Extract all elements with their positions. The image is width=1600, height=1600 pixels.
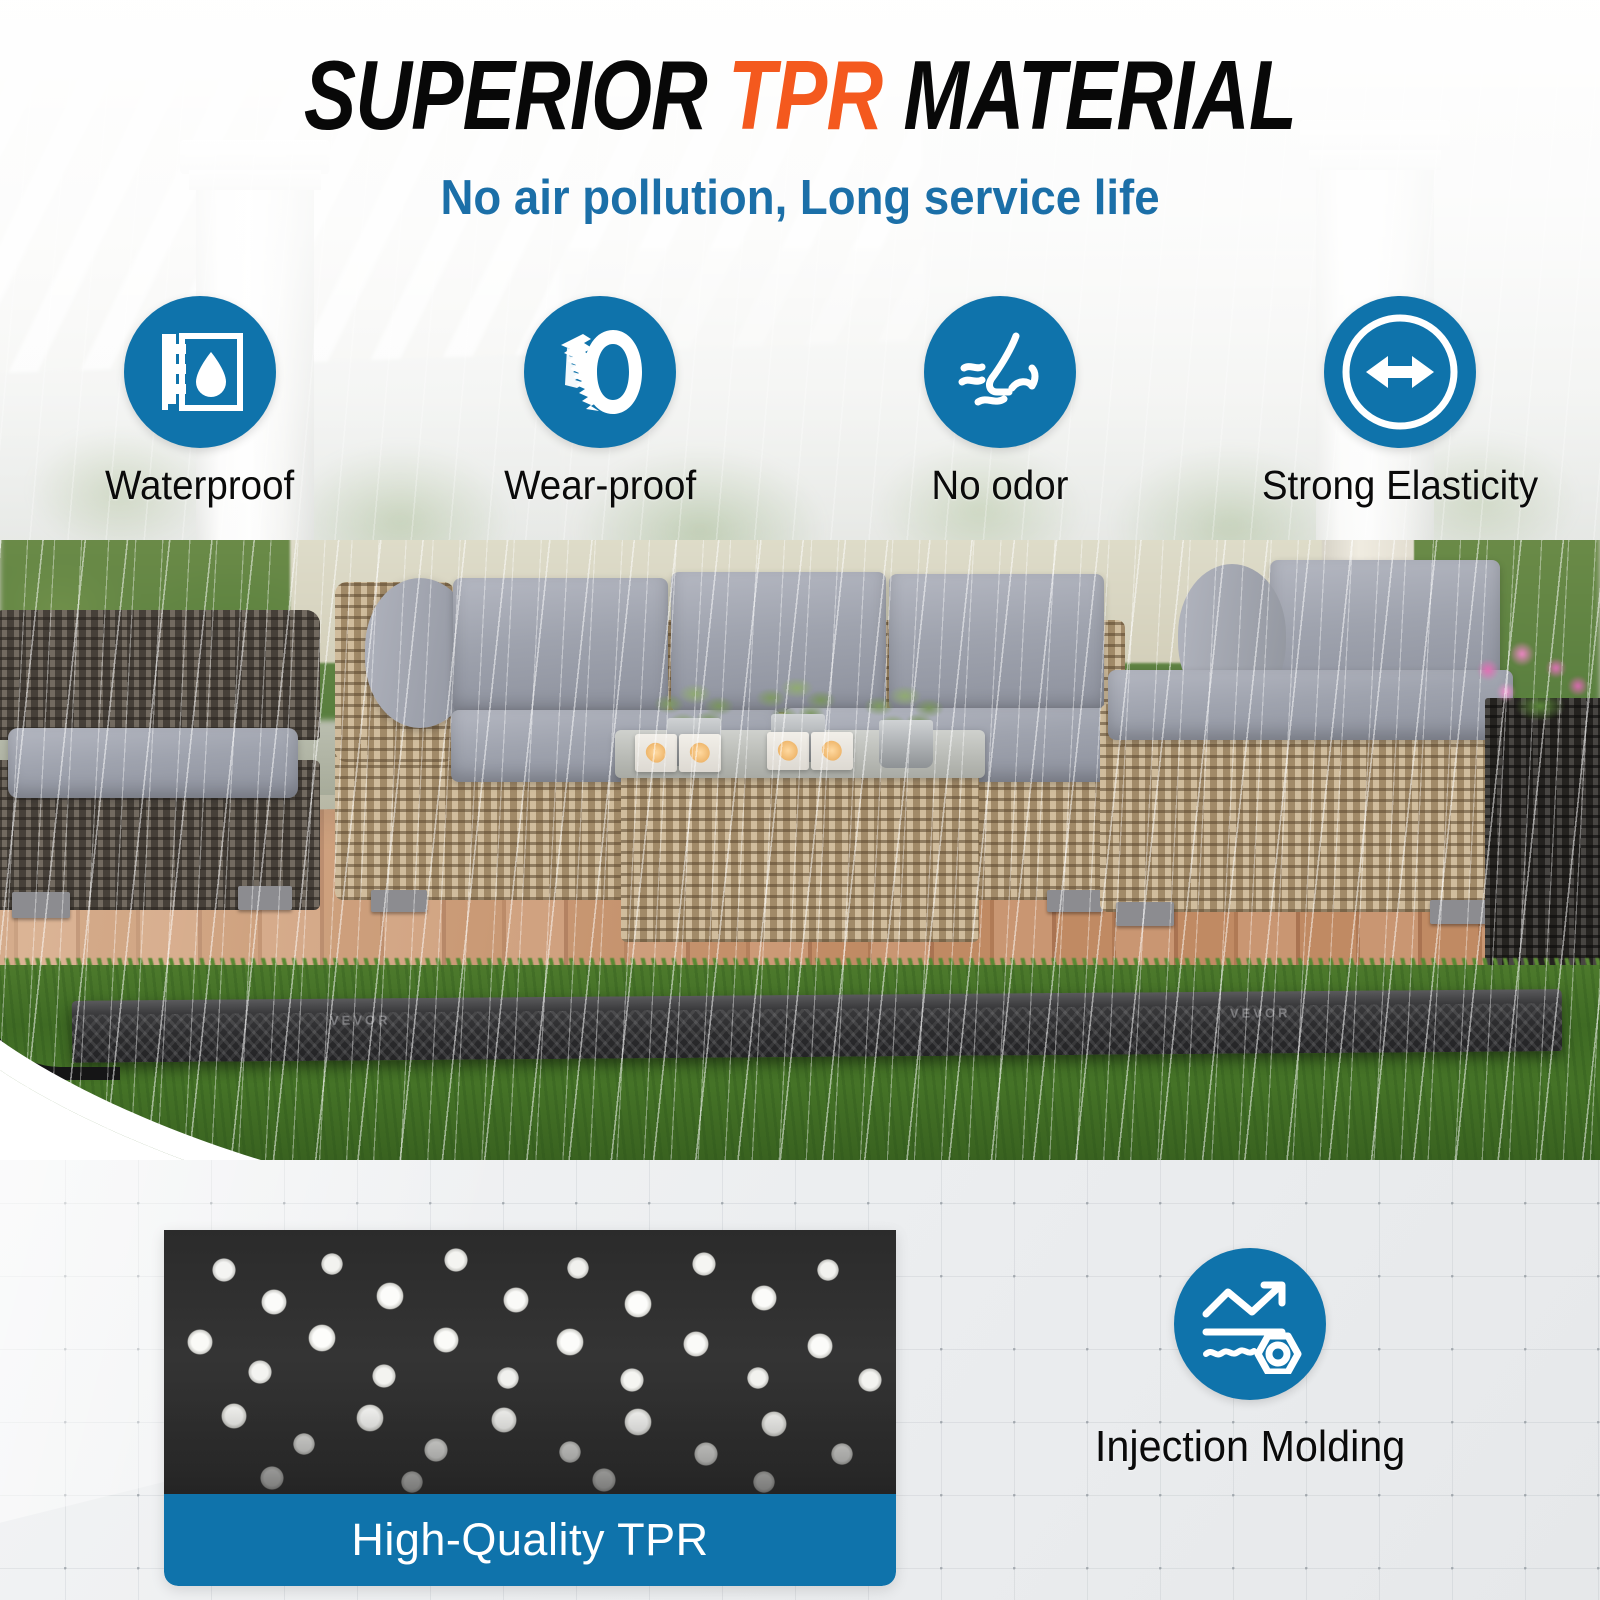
sofa-foot (371, 890, 427, 912)
feature-label: No odor (931, 462, 1068, 509)
nose-smell-icon (924, 296, 1076, 448)
waterproof-droplet-icon (124, 296, 276, 448)
patio-photo: VEVOR VEVOR (0, 540, 1600, 1160)
feature-injection-molding: Injection Molding (1020, 1248, 1480, 1472)
feature-label: Wear-proof (504, 462, 696, 509)
armchair-foot (238, 886, 292, 910)
rattan-armchair (0, 610, 320, 910)
sofa-back-cushion (453, 578, 668, 713)
title-highlight-tpr: TPR (728, 40, 882, 150)
feature-strong-elasticity: Strong Elasticity (1230, 296, 1570, 509)
candle-lantern (635, 734, 677, 772)
tpr-caption-label: High-Quality TPR (351, 1514, 708, 1566)
chaise-foot (1116, 902, 1174, 926)
feature-no-odor: No odor (830, 296, 1170, 509)
tpr-material-card: High-Quality TPR (164, 1230, 896, 1586)
candle-lantern (811, 732, 853, 770)
product-feature-graphic: VEVOR VEVOR SUPERIOR TPR MATERIAL No air… (0, 0, 1600, 1600)
title-part-2: MATERIAL (882, 40, 1296, 150)
hero-photo-section: VEVOR VEVOR SUPERIOR TPR MATERIAL No air… (0, 0, 1600, 1160)
wicker-coffee-table (615, 730, 985, 950)
injection-molding-icon (1174, 1248, 1326, 1400)
cable-protector-ramp: VEVOR VEVOR (72, 989, 1562, 1063)
feature-row: Waterproof Wear-proof (0, 296, 1600, 546)
chaise-seat-cushion (1108, 670, 1513, 740)
double-arrow-stretch-icon (1324, 296, 1476, 448)
bottom-section: High-Quality TPR Injection Molding (0, 1160, 1600, 1600)
title-part-1: SUPERIOR (304, 40, 728, 150)
dark-wicker-planter (1485, 698, 1600, 988)
page-title: SUPERIOR TPR MATERIAL (160, 46, 1440, 146)
feature-label: Waterproof (105, 462, 294, 509)
pellets-shadow (164, 1398, 896, 1494)
chaise-foot (1430, 900, 1488, 924)
injection-molding-label: Injection Molding (1095, 1422, 1405, 1472)
coffee-table-body (621, 766, 979, 942)
sofa-foot (1047, 890, 1103, 912)
armchair-foot (12, 892, 70, 918)
tpr-caption-bar: High-Quality TPR (164, 1494, 896, 1586)
tire-tread-icon (524, 296, 676, 448)
feature-waterproof: Waterproof (30, 296, 370, 509)
pink-geranium-flowers (1460, 610, 1600, 720)
candle-lantern (679, 734, 721, 772)
feature-wearproof: Wear-proof (430, 296, 770, 509)
armchair-back (0, 610, 320, 740)
feature-label: Strong Elasticity (1262, 462, 1538, 509)
rattan-chaise (1100, 612, 1520, 912)
ramp-brand-label: VEVOR (330, 1012, 391, 1027)
candle-lantern (767, 732, 809, 770)
page-subtitle: No air pollution, Long service life (56, 170, 1544, 226)
black-cable (0, 950, 120, 1080)
armchair-cushion (8, 728, 298, 798)
plant-pot (879, 720, 933, 768)
ramp-brand-label: VEVOR (1230, 1005, 1291, 1020)
